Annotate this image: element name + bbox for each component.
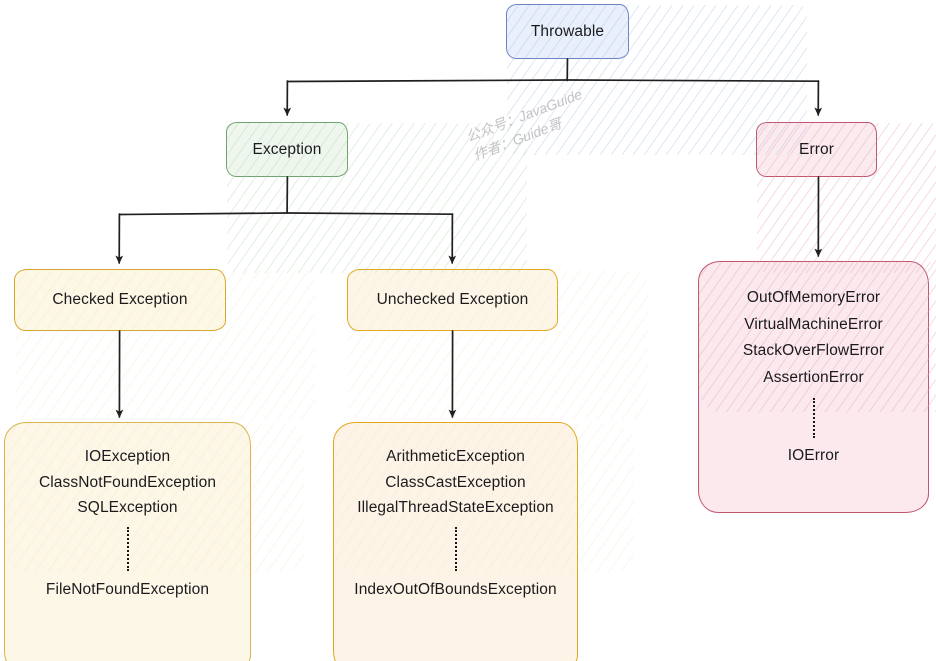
hatch-fill xyxy=(5,423,305,573)
node-throwable-label: Throwable xyxy=(531,23,604,41)
list-item: ArithmeticException xyxy=(386,449,525,465)
node-unchecked-exception[interactable]: Unchecked Exception xyxy=(347,269,558,331)
list-item: IndexOutOfBoundsException xyxy=(354,582,556,598)
list-item: FileNotFoundException xyxy=(46,582,209,598)
list-item: IllegalThreadStateException xyxy=(357,500,554,516)
hatch-fill xyxy=(757,123,936,273)
watermark: 公众号：JavaGuide 作者：Guide哥 xyxy=(463,84,592,166)
edge-bus-horizontal-top xyxy=(288,80,819,82)
node-error-label: Error xyxy=(799,141,834,159)
node-unchecked-exception-subclasses[interactable]: ArithmeticException ClassCastException I… xyxy=(333,422,578,661)
node-unchecked-exception-label: Unchecked Exception xyxy=(377,291,529,309)
node-error[interactable]: Error xyxy=(756,122,877,177)
list-item: StackOverFlowError xyxy=(743,343,884,359)
node-checked-exception-label: Checked Exception xyxy=(52,291,187,309)
vertical-ellipsis-icon xyxy=(813,398,815,438)
list-item: ClassCastException xyxy=(385,475,526,491)
list-item: IOException xyxy=(85,449,171,465)
node-error-subclasses[interactable]: OutOfMemoryError VirtualMachineError Sta… xyxy=(698,261,929,513)
node-checked-exception-subclasses[interactable]: IOException ClassNotFoundException SQLEx… xyxy=(4,422,251,661)
list-item: SQLException xyxy=(77,500,177,516)
hatch-fill xyxy=(699,262,936,412)
list-item: ClassNotFoundException xyxy=(39,475,216,491)
list-item: AssertionError xyxy=(763,370,863,386)
edge-bus-horizontal-mid xyxy=(120,213,453,215)
node-exception-label: Exception xyxy=(253,141,322,159)
node-exception[interactable]: Exception xyxy=(226,122,348,177)
vertical-ellipsis-icon xyxy=(127,527,129,571)
list-item: IOError xyxy=(788,448,840,464)
exception-hierarchy-diagram: Throwable Exception Error Checked Except… xyxy=(0,0,936,661)
hatch-fill xyxy=(334,423,634,573)
list-item: OutOfMemoryError xyxy=(747,290,880,306)
list-item: VirtualMachineError xyxy=(744,317,883,333)
vertical-ellipsis-icon xyxy=(455,527,457,571)
node-checked-exception[interactable]: Checked Exception xyxy=(14,269,226,331)
node-throwable[interactable]: Throwable xyxy=(506,4,629,59)
